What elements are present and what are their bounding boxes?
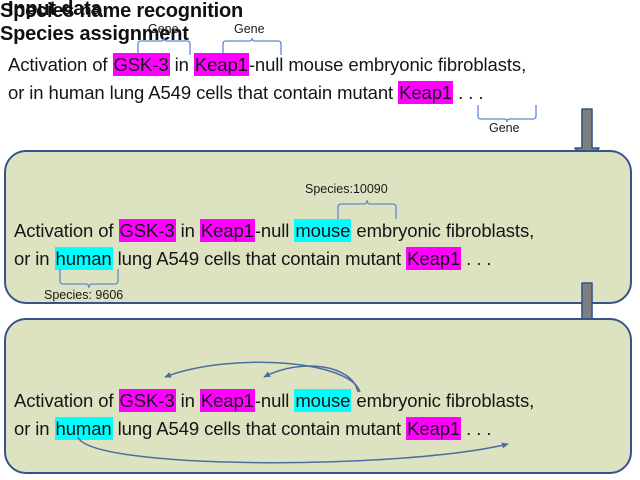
text-run: lung A549 cells that contain mutant xyxy=(113,418,407,439)
input-sentence-line-2: or in human lung A549 cells that contain… xyxy=(8,82,483,104)
gene-annotation-label-3: Gene xyxy=(489,121,520,135)
diagram-canvas: Input data Gene Gene Activation of GSK-3… xyxy=(0,0,640,480)
species-mention-human: human xyxy=(55,417,113,440)
assignment-section-title: Species assignment xyxy=(0,23,640,46)
input-sentence-line-1: Activation of GSK-3 in Keap1-null mouse … xyxy=(8,54,526,76)
gene-annotation-label-2: Gene xyxy=(234,22,265,36)
text-run: or in xyxy=(14,248,55,269)
gene-mention-keap1: Keap1 xyxy=(194,53,249,76)
species-bracket-mouse xyxy=(336,198,398,220)
assignment-sentence-line-1: Activation of GSK-3 in Keap1-null mouse … xyxy=(14,390,534,412)
text-run: -null xyxy=(255,390,295,411)
gene-mention-keap1-2: Keap1 xyxy=(406,247,461,270)
input-section-title: Input data xyxy=(8,0,102,21)
text-run: . . . xyxy=(461,418,491,439)
gene-mention-keap1-2: Keap1 xyxy=(406,417,461,440)
gene-mention-keap1: Keap1 xyxy=(200,389,255,412)
text-run: Activation of xyxy=(14,220,119,241)
text-run: embryonic fibroblasts, xyxy=(351,220,534,241)
species-annotation-label-human: Species: 9606 xyxy=(44,288,123,302)
text-run: Activation of xyxy=(8,54,113,75)
assignment-sentence-line-2: or in human lung A549 cells that contain… xyxy=(14,418,491,440)
text-run: . . . xyxy=(461,248,491,269)
text-run: or in human lung A549 cells that contain… xyxy=(8,82,398,103)
text-run: Activation of xyxy=(14,390,119,411)
species-annotation-label-mouse: Species:10090 xyxy=(305,182,388,196)
species-mention-mouse: mouse xyxy=(294,389,351,412)
text-run: embryonic fibroblasts, xyxy=(351,390,534,411)
gene-mention-gsk3: GSK-3 xyxy=(119,219,176,242)
text-run: in xyxy=(176,220,200,241)
species-mention-mouse: mouse xyxy=(294,219,351,242)
species-mention-human: human xyxy=(55,247,113,270)
text-run: lung A549 cells that contain mutant xyxy=(113,248,407,269)
gene-mention-gsk3: GSK-3 xyxy=(119,389,176,412)
gene-mention-gsk3: GSK-3 xyxy=(113,53,170,76)
gene-mention-keap1: Keap1 xyxy=(200,219,255,242)
gene-annotation-label-1: Gene xyxy=(148,22,179,36)
gene-mention-keap1-2: Keap1 xyxy=(398,81,453,104)
recognition-sentence-line-1: Activation of GSK-3 in Keap1-null mouse … xyxy=(14,220,534,242)
text-run: -null xyxy=(255,220,295,241)
recognition-sentence-line-2: or in human lung A549 cells that contain… xyxy=(14,248,491,270)
text-run: -null mouse embryonic fibroblasts, xyxy=(249,54,526,75)
species-bracket-human xyxy=(58,268,120,290)
text-run: in xyxy=(170,54,194,75)
text-run: . . . xyxy=(453,82,483,103)
text-run: in xyxy=(176,390,200,411)
text-run: or in xyxy=(14,418,55,439)
